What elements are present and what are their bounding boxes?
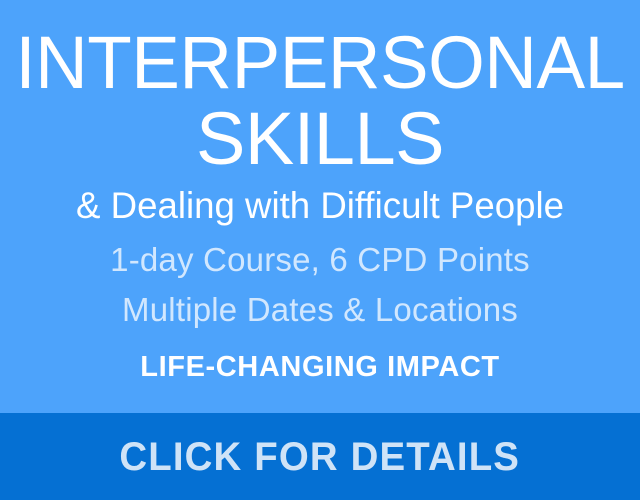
- cta-button-label: CLICK FOR DETAILS: [120, 435, 521, 479]
- impact-tagline: LIFE-CHANGING IMPACT: [0, 350, 640, 384]
- advertisement-banner[interactable]: INTERPERSONAL SKILLS & Dealing with Diff…: [0, 0, 640, 500]
- headline-line-1: INTERPERSONAL: [5, 24, 635, 102]
- detail-line-course-info: 1-day Course, 6 CPD Points: [0, 240, 640, 280]
- subheadline: & Dealing with Difficult People: [3, 184, 637, 228]
- cta-button[interactable]: CLICK FOR DETAILS: [0, 413, 640, 500]
- headline-line-2: SKILLS: [0, 100, 640, 178]
- banner-content-area: INTERPERSONAL SKILLS & Dealing with Diff…: [0, 0, 640, 413]
- detail-line-dates-locations: Multiple Dates & Locations: [0, 290, 640, 330]
